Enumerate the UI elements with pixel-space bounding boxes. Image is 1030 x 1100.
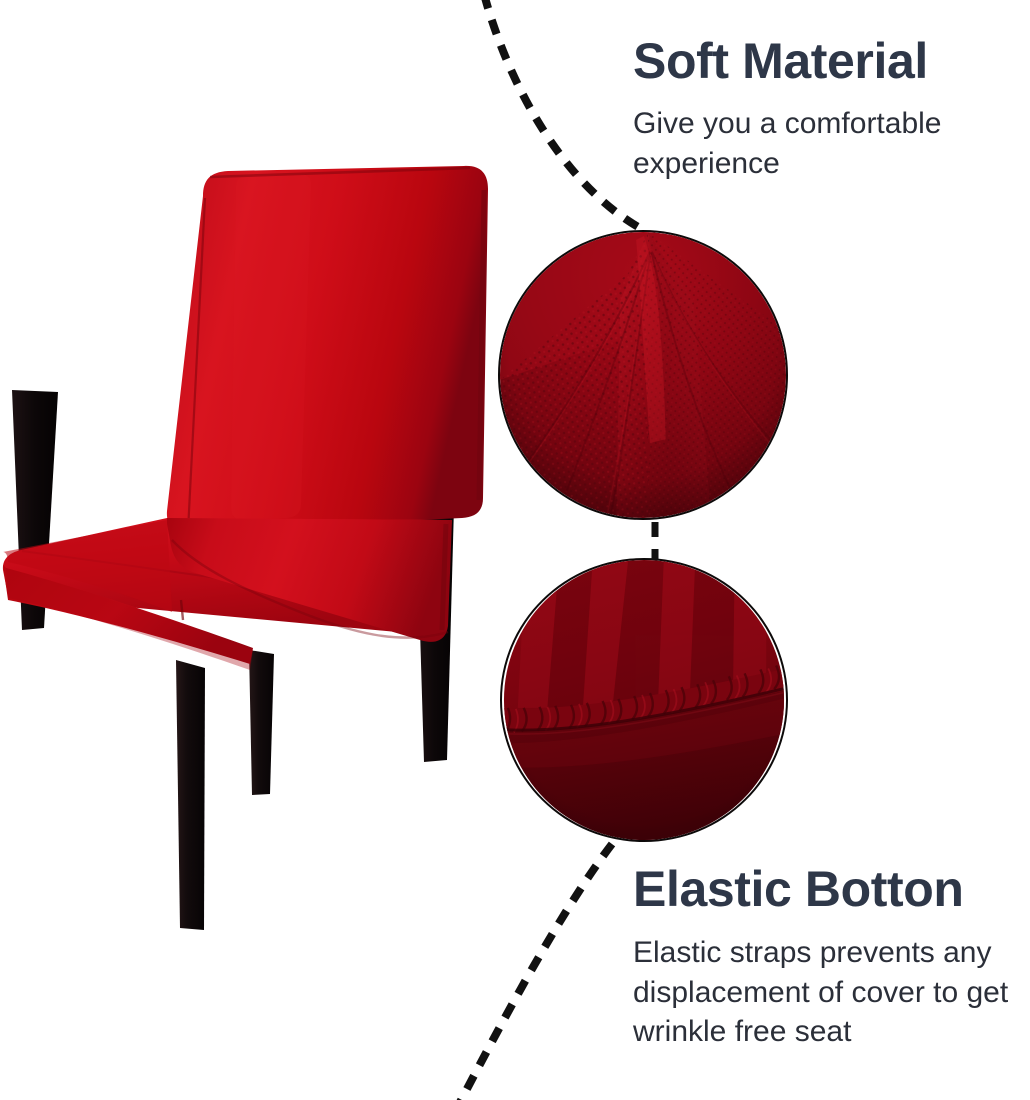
product-feature-infographic: Soft Material Give you a comfortable exp… — [0, 0, 1030, 1100]
feature-body-soft-material: Give you a comfortable experience — [633, 104, 985, 183]
feature-body-elastic-bottom: Elastic straps prevents any displacement… — [633, 933, 1030, 1052]
chair-leg-front-left — [176, 660, 205, 930]
fabric-texture-swatch-icon — [498, 230, 788, 520]
feature-block-soft-material: Soft Material Give you a comfortable exp… — [633, 36, 1030, 183]
chair-leg-front-right — [249, 650, 274, 795]
elastic-hem-swatch-icon — [500, 558, 788, 842]
feature-heading-soft-material: Soft Material — [633, 36, 1030, 87]
feature-heading-elastic-bottom: Elastic Botton — [633, 864, 1030, 915]
dining-chair-illustration — [0, 0, 520, 960]
chair-backrest — [167, 166, 488, 531]
feature-block-elastic-bottom: Elastic Botton Elastic straps prevents a… — [633, 864, 1030, 1052]
